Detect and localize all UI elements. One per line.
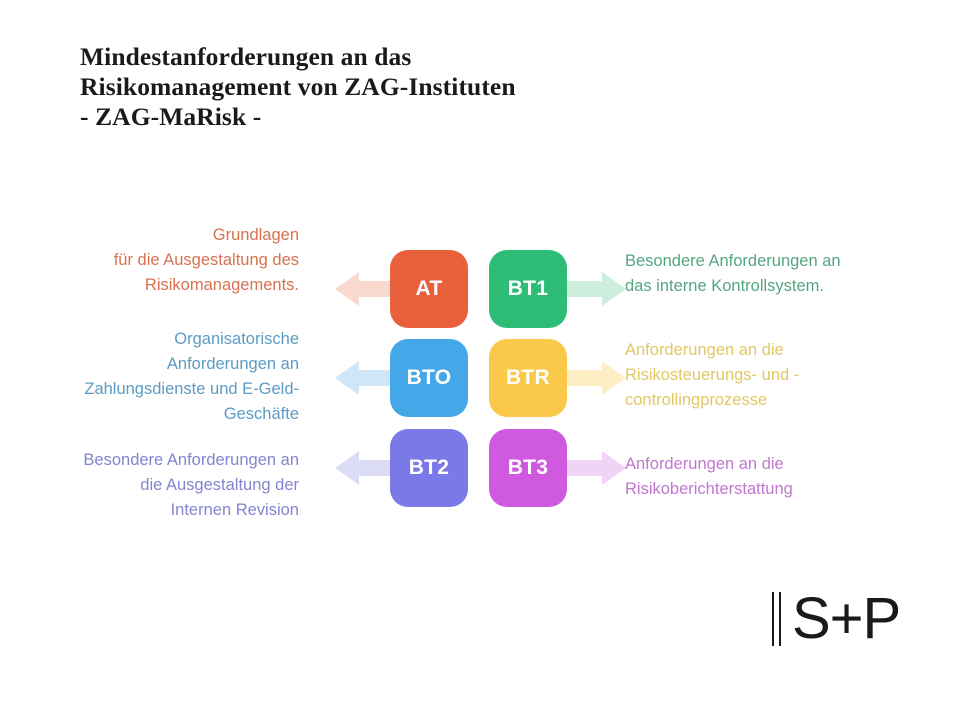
caption-at-line-2: für die Ausgestaltung des bbox=[9, 248, 299, 273]
caption-btr-line-3: controllingprozesse bbox=[625, 388, 915, 413]
caption-bto-line-2: Anforderungen an bbox=[9, 352, 299, 377]
box-bt2[interactable]: BT2 bbox=[390, 429, 468, 507]
caption-bt1: Besondere Anforderungen an das interne K… bbox=[625, 249, 915, 299]
arrow-right-bt3 bbox=[558, 445, 626, 491]
caption-bto-line-3: Zahlungsdienste und E-Geld- bbox=[9, 377, 299, 402]
caption-bt2: Besondere Anforderungen an die Ausgestal… bbox=[9, 448, 299, 523]
logo-text: S+P bbox=[792, 592, 900, 646]
caption-at-line-3: Risikomanagements. bbox=[9, 273, 299, 298]
caption-bt3: Anforderungen an die Risikoberichterstat… bbox=[625, 452, 915, 502]
arrow-right-bt1-shape bbox=[558, 272, 626, 306]
caption-bt1-line-1: Besondere Anforderungen an bbox=[625, 249, 915, 274]
caption-at-line-1: Grundlagen bbox=[9, 223, 299, 248]
box-bt3[interactable]: BT3 bbox=[489, 429, 567, 507]
caption-bt2-line-3: Internen Revision bbox=[9, 498, 299, 523]
caption-bt3-line-2: Risikoberichterstattung bbox=[625, 477, 915, 502]
arrow-right-bt1 bbox=[558, 266, 626, 312]
box-bto[interactable]: BTO bbox=[390, 339, 468, 417]
caption-at: Grundlagen für die Ausgestaltung des Ris… bbox=[9, 223, 299, 298]
arrow-right-bt3-shape bbox=[558, 451, 626, 485]
caption-bt3-line-1: Anforderungen an die bbox=[625, 452, 915, 477]
caption-btr: Anforderungen an die Risikosteuerungs- u… bbox=[625, 338, 915, 413]
caption-btr-line-1: Anforderungen an die bbox=[625, 338, 915, 363]
arrow-right-btr-shape bbox=[558, 361, 626, 395]
sp-logo: S+P bbox=[772, 592, 900, 646]
caption-bto-line-4: Geschäfte bbox=[9, 402, 299, 427]
caption-btr-line-2: Risikosteuerungs- und - bbox=[625, 363, 915, 388]
caption-bt2-line-2: die Ausgestaltung der bbox=[9, 473, 299, 498]
box-btr[interactable]: BTR bbox=[489, 339, 567, 417]
caption-bto-line-1: Organisatorische bbox=[9, 327, 299, 352]
caption-bt1-line-2: das interne Kontrollsystem. bbox=[625, 274, 915, 299]
caption-bto: Organisatorische Anforderungen an Zahlun… bbox=[9, 327, 299, 427]
arrow-right-btr bbox=[558, 355, 626, 401]
box-bt1[interactable]: BT1 bbox=[489, 250, 567, 328]
logo-bars-icon bbox=[772, 592, 781, 646]
caption-bt2-line-1: Besondere Anforderungen an bbox=[9, 448, 299, 473]
box-at[interactable]: AT bbox=[390, 250, 468, 328]
